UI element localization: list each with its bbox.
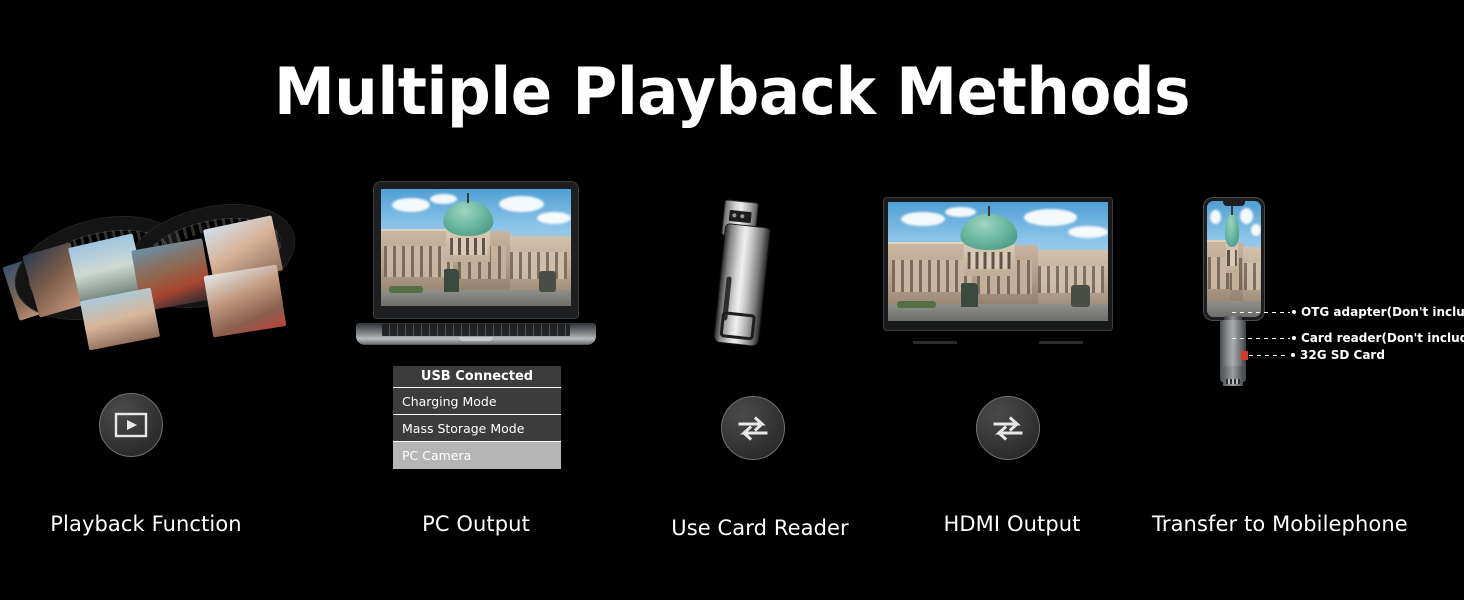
tv-screen — [888, 202, 1108, 321]
dome-spire — [467, 193, 469, 204]
laptop-trackpad-notch — [459, 337, 493, 341]
leader-line — [1232, 338, 1290, 339]
usb-menu-item-charging-mode[interactable]: Charging Mode — [393, 388, 561, 415]
equestrian-statue — [444, 269, 459, 292]
usb-connected-menu: USB Connected Charging Mode Mass Storage… — [393, 366, 561, 469]
page-title: Multiple Playback Methods — [44, 55, 1420, 131]
laptop-lid — [374, 182, 578, 318]
laptop-graphic — [356, 182, 596, 345]
caption-transfer-to-mobilephone: Transfer to Mobilephone — [1152, 511, 1400, 537]
buda-castle-photo — [381, 189, 571, 306]
leader-dot — [1291, 353, 1295, 357]
annotation-label: OTG adapter(Don't include) — [1301, 305, 1464, 319]
annotation-otg-adapter: OTG adapter(Don't include) — [1232, 305, 1464, 319]
buda-castle-photo — [1207, 201, 1261, 317]
red-marker-icon — [1241, 351, 1248, 360]
leader-dot — [1292, 310, 1296, 314]
tv-leg-right — [1038, 329, 1089, 344]
annotation-card-reader: Card reader(Don't include) — [1232, 331, 1464, 345]
usb-menu-header: USB Connected — [393, 366, 561, 388]
palace-right-wing — [1243, 247, 1261, 300]
leader-line — [1249, 355, 1289, 356]
annotation-label: 32G SD Card — [1300, 348, 1385, 362]
sd-card — [1223, 366, 1243, 386]
laptop-screen — [381, 189, 571, 306]
dome-spire — [988, 206, 990, 217]
dome-spire — [1231, 204, 1233, 214]
tv-frame — [884, 198, 1112, 330]
tv-leg-left — [906, 329, 957, 344]
transfer-arrows-icon — [721, 396, 785, 460]
laptop-base — [356, 323, 596, 345]
cloud — [901, 212, 945, 226]
television-graphic — [884, 198, 1112, 344]
fountain — [539, 271, 556, 292]
cloud — [1251, 224, 1261, 236]
buda-castle-photo — [888, 202, 1108, 321]
film-strip-graphic — [12, 196, 302, 344]
video-play-icon — [99, 393, 163, 457]
leader-line — [1232, 312, 1290, 313]
laptop-keyboard — [382, 324, 570, 336]
fountain — [1071, 285, 1091, 306]
caption-use-card-reader: Use Card Reader — [648, 515, 872, 541]
smartphone — [1204, 198, 1264, 320]
usb-drive-cap-ring — [719, 311, 756, 340]
cloud — [1024, 209, 1077, 226]
cloud — [537, 212, 571, 224]
leader-dot — [1292, 336, 1296, 340]
shrubs — [897, 301, 937, 308]
cloud — [1068, 226, 1108, 238]
equestrian-statue — [961, 283, 979, 307]
cloud — [430, 194, 457, 205]
usb-menu-item-pc-camera[interactable]: PC Camera — [393, 442, 561, 469]
usb-menu-item-mass-storage-mode[interactable]: Mass Storage Mode — [393, 415, 561, 442]
caption-hdmi-output: HDMI Output — [906, 511, 1118, 537]
annotation-label: Card reader(Don't include) — [1301, 331, 1464, 345]
caption-playback-function: Playback Function — [40, 511, 252, 537]
transfer-arrows-icon — [976, 396, 1040, 460]
annotation-sd-card: 32G SD Card — [1241, 348, 1385, 362]
caption-pc-output: PC Output — [370, 511, 582, 537]
phone-notch — [1223, 201, 1245, 206]
shrubs — [389, 286, 423, 293]
usb-flash-drive-graphic — [696, 196, 792, 344]
usb-drive-body — [714, 224, 770, 346]
phone-screen — [1207, 201, 1261, 317]
film-photo — [204, 265, 287, 338]
